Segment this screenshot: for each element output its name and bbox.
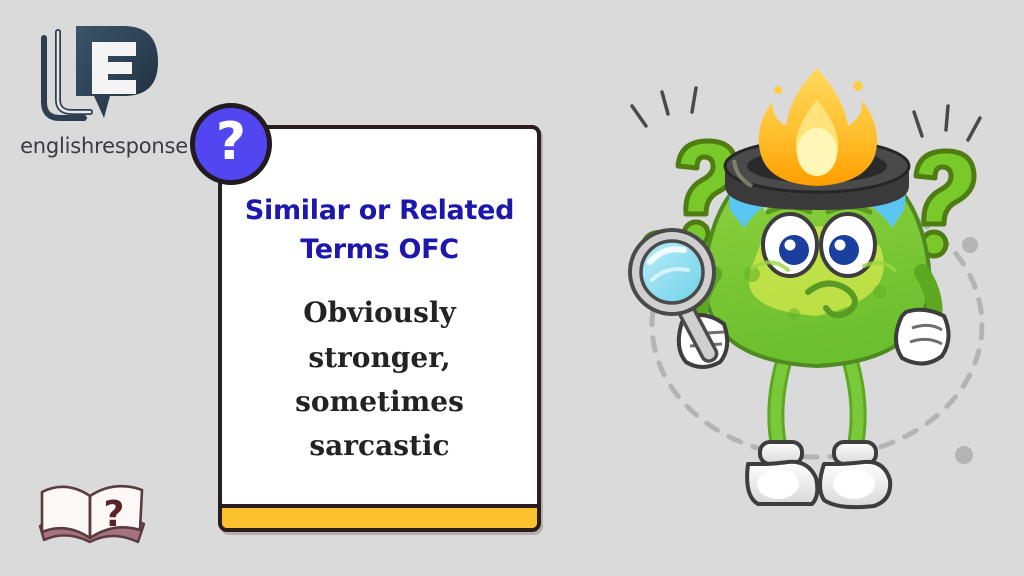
speech-bubble-logo-icon [32,22,164,130]
info-card: Similar or Related Terms OFC Obviously s… [218,125,541,532]
question-badge: ? [190,103,272,185]
brand-name: englishresponse [14,134,194,158]
info-card-body: Similar or Related Terms OFC Obviously s… [222,129,537,504]
mascot-legs [776,360,858,452]
svg-text:?: ? [104,494,125,535]
brand-logo: englishresponse [14,22,194,172]
open-book-icon: ? [34,468,152,554]
mascot-illustration [612,60,1012,530]
card-heading: Similar or Related Terms OFC [245,191,515,269]
mascot-shoe-right [820,442,890,507]
question-mark-icon: ? [216,116,246,168]
spark-lines-left [632,88,696,126]
card-definition-text: Obviously stronger, sometimes sarcastic [265,291,495,468]
magnifying-glass-icon [630,230,719,364]
mascot-hand-right [896,310,949,364]
spark-lines-right [914,106,980,140]
flame-icon [759,68,877,186]
mascot-shoe-left [747,442,817,504]
card-accent-bar [222,504,537,528]
poster-canvas: englishresponse ? Similar or Related Ter… [0,0,1024,576]
